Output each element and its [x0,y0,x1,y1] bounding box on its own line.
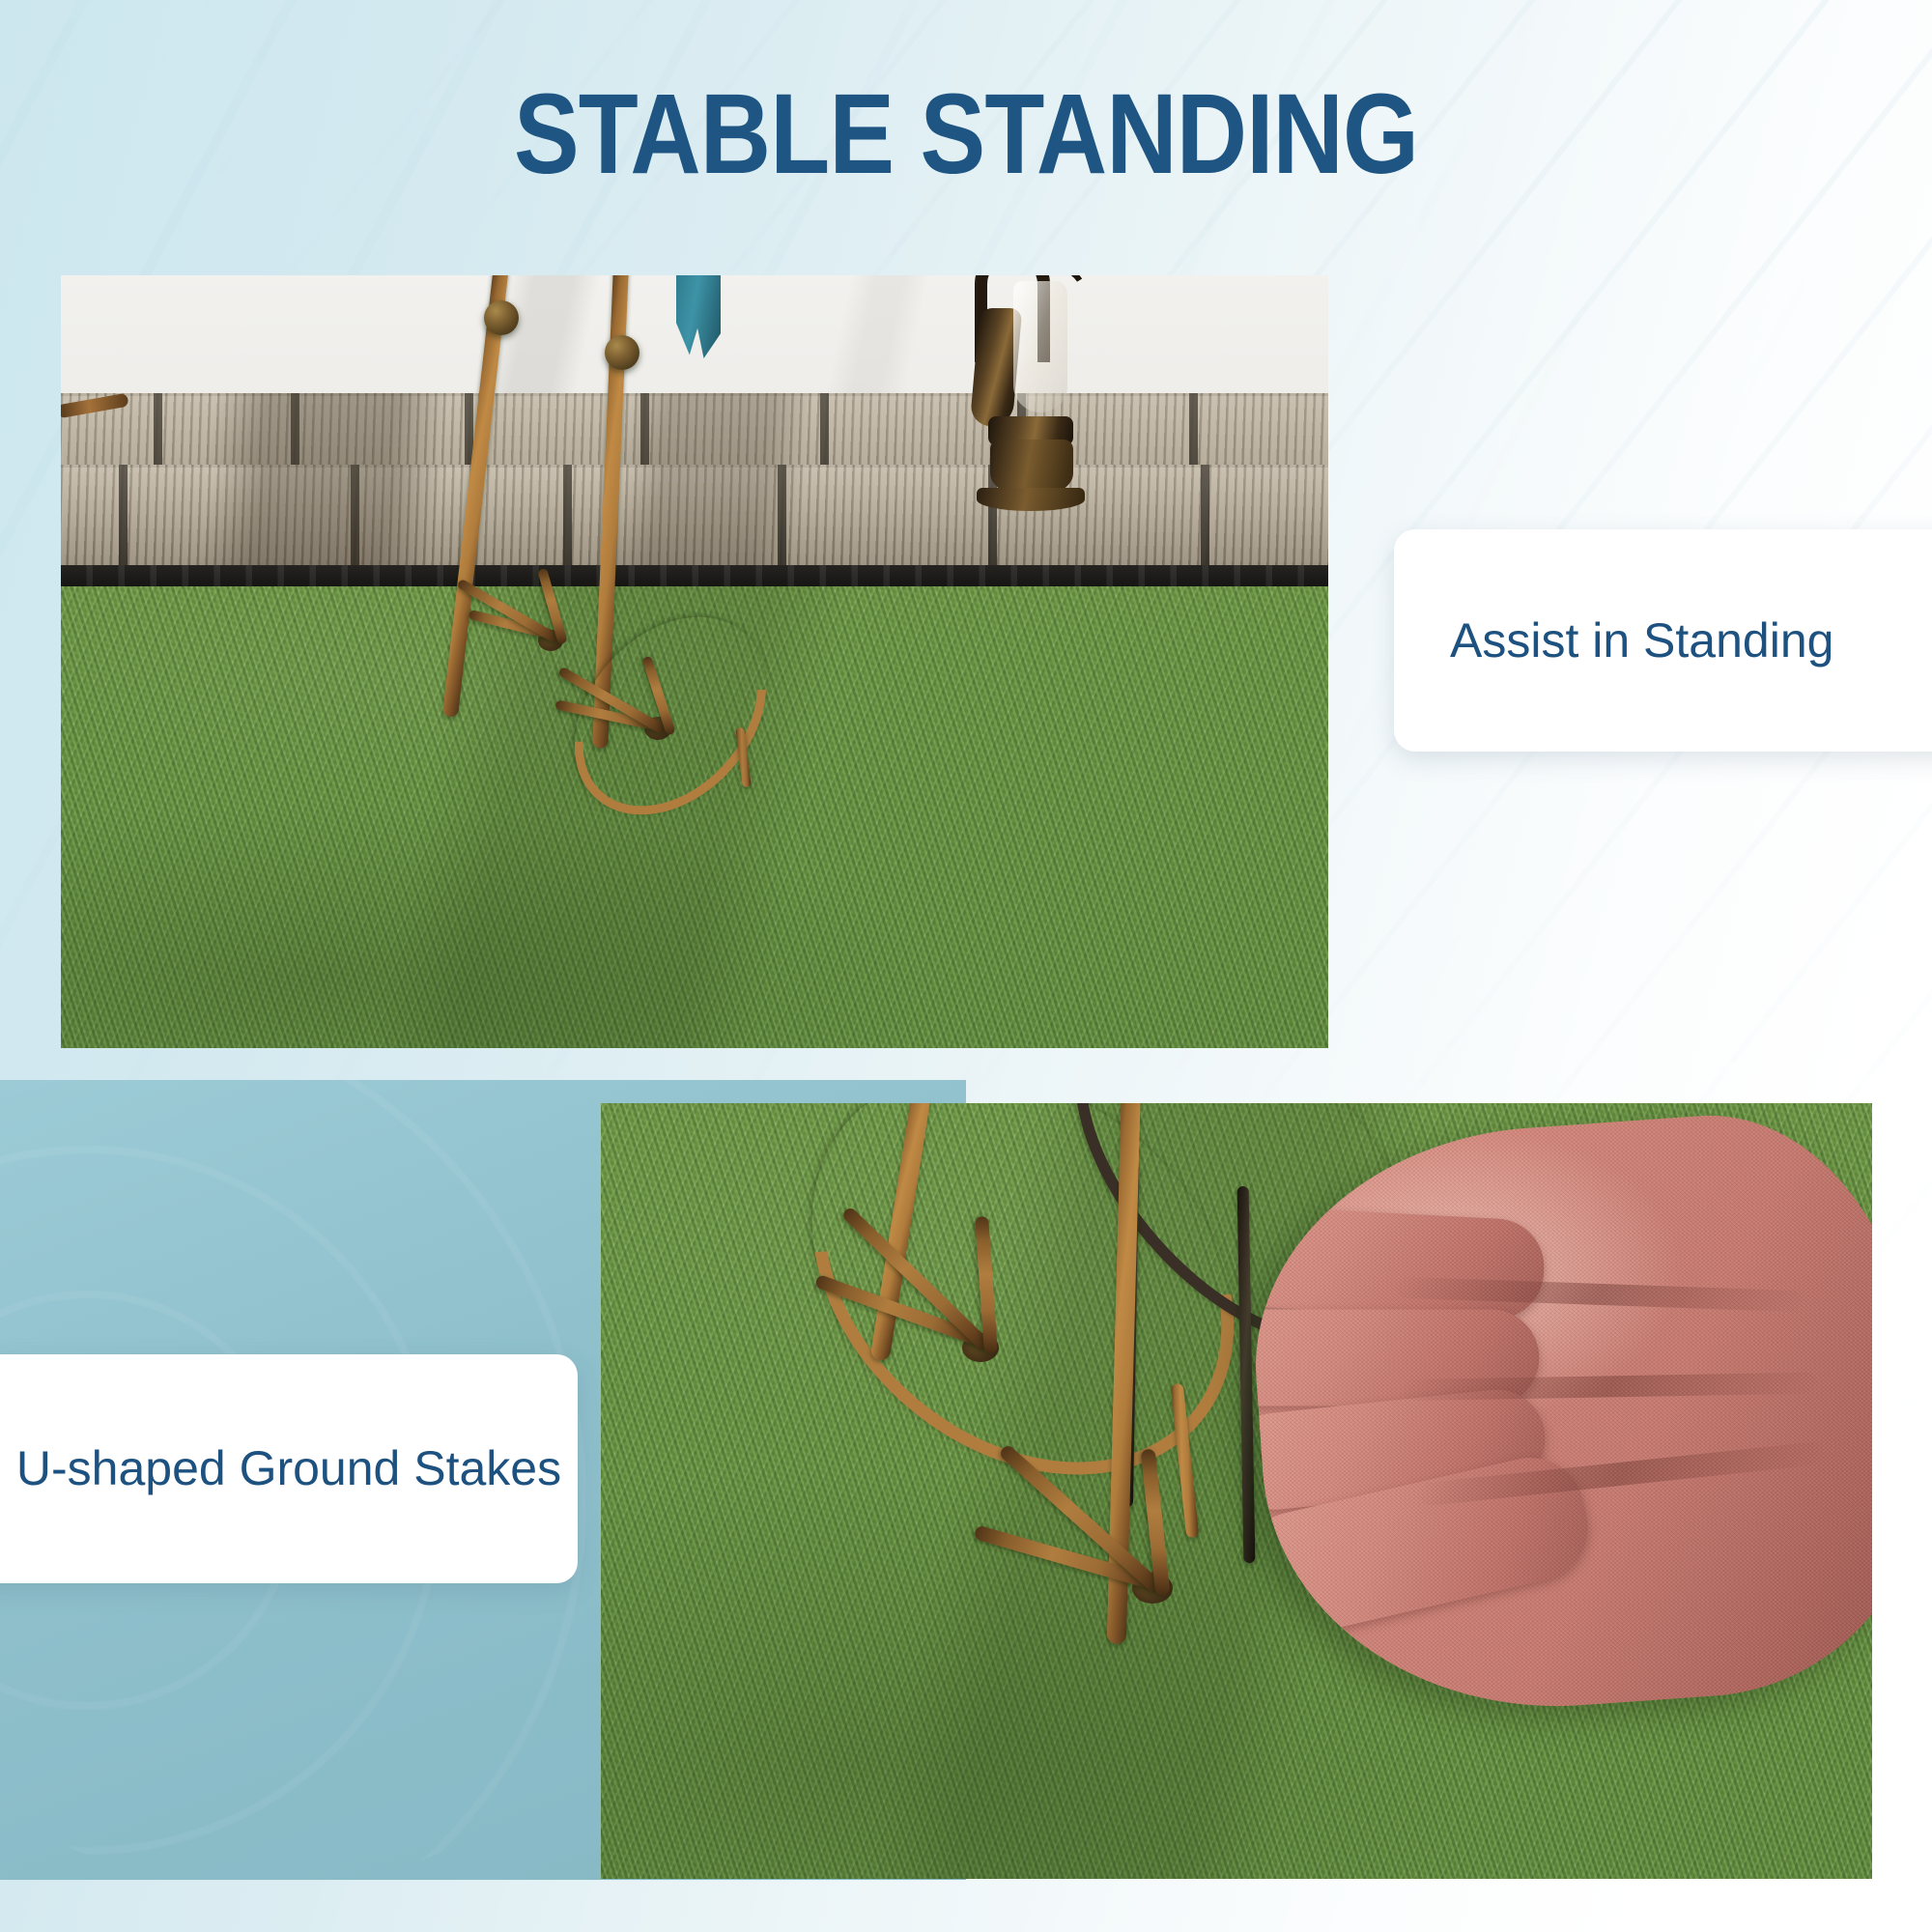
skin-texture [1240,1103,1872,1726]
human-hand [1240,1103,1872,1726]
photo-stakes-planted-in-lawn [61,275,1328,1048]
photo-hand-holding-ground-stake [601,1103,1872,1879]
lantern-glass [1013,281,1067,412]
ball-knob-left [484,300,519,335]
callout-card-assist-in-standing: Assist in Standing [1394,529,1932,752]
ball-knob-right [605,335,639,370]
callout-card-u-shaped-ground-stakes: U-shaped Ground Stakes [0,1354,578,1583]
lantern-foot-plate [977,488,1085,511]
callout-label: U-shaped Ground Stakes [16,1437,561,1500]
page-title: STABLE STANDING [135,75,1797,195]
callout-label: Assist in Standing [1450,612,1833,668]
